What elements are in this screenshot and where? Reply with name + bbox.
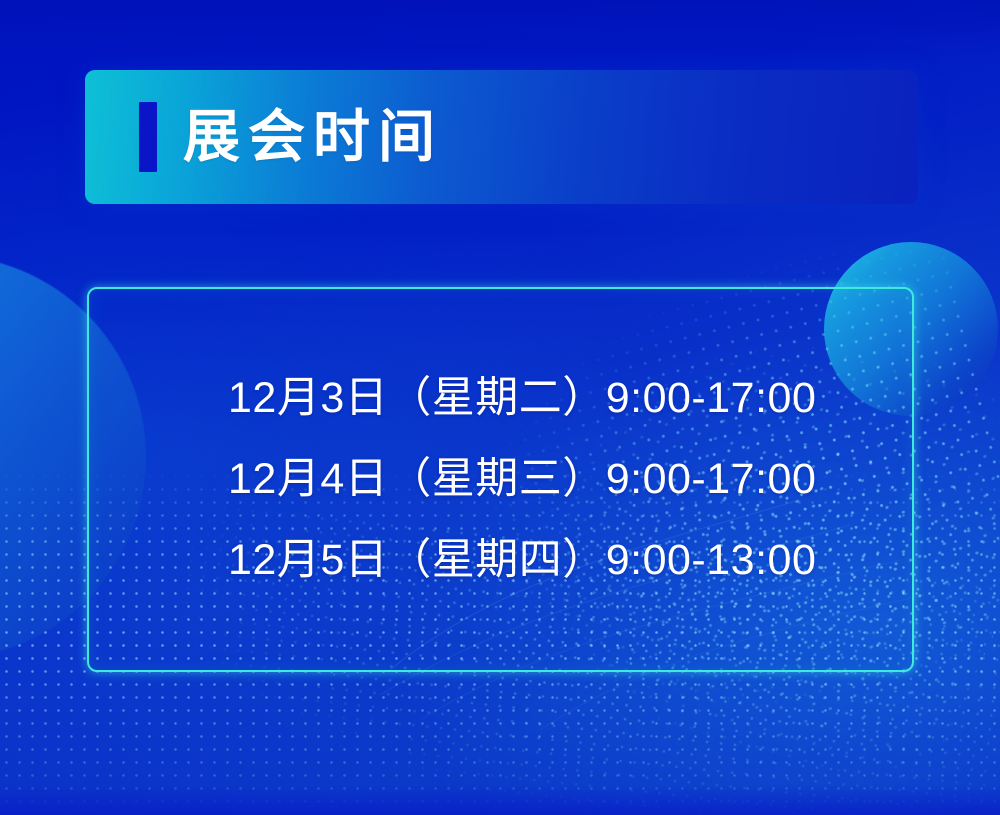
title-accent-bar bbox=[139, 102, 157, 172]
page-title: 展会时间 bbox=[183, 109, 443, 166]
schedule-list: 12月3日（星期二）9:00-17:00 12月4日（星期三）9:00-17:0… bbox=[89, 358, 912, 601]
schedule-frame: 12月3日（星期二）9:00-17:00 12月4日（星期三）9:00-17:0… bbox=[87, 287, 914, 672]
top-edge-vignette bbox=[0, 0, 1000, 60]
list-item: 12月5日（星期四）9:00-13:00 bbox=[228, 520, 912, 601]
section-title-banner: 展会时间 bbox=[85, 70, 918, 204]
bottom-edge-vignette bbox=[0, 785, 1000, 815]
poster-canvas: 展会时间 12月3日（星期二）9:00-17:00 12月4日（星期三）9:00… bbox=[0, 0, 1000, 815]
list-item: 12月3日（星期二）9:00-17:00 bbox=[228, 358, 912, 439]
list-item: 12月4日（星期三）9:00-17:00 bbox=[228, 439, 912, 520]
